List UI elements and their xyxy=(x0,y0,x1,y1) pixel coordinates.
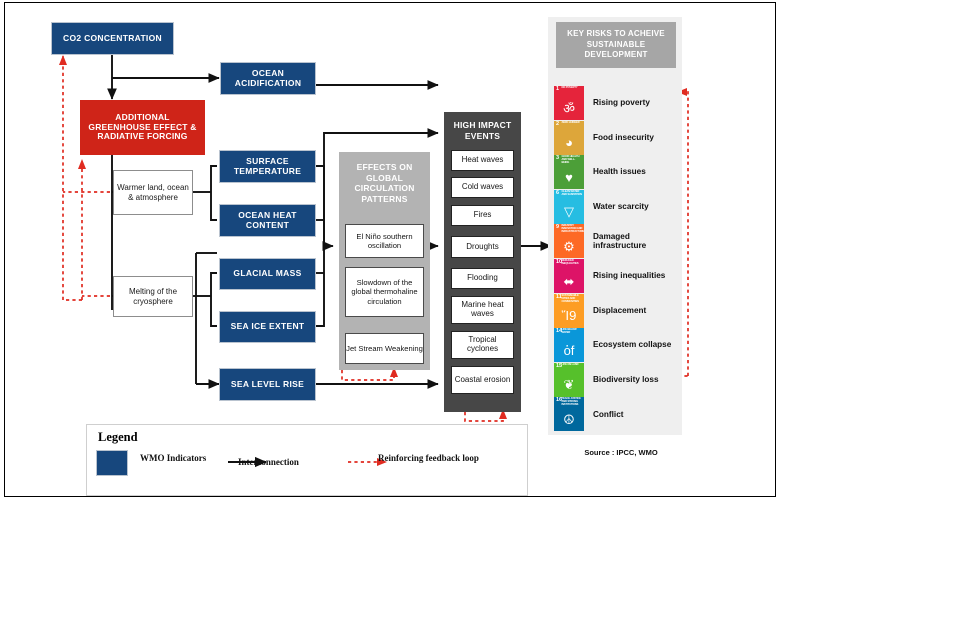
sdg-goal-1-icon: 1NO POVERTYॐ xyxy=(554,86,584,120)
legend-label-interconnection: Interconnection xyxy=(238,457,299,469)
risk-label: Ecosystem collapse xyxy=(593,340,671,350)
risk-row[interactable]: 11SUSTAINABLE CITIES AND COMMUNITIESἽ9Di… xyxy=(554,294,682,328)
sdg-goal-glyph: ▽ xyxy=(554,200,584,224)
sdg-goal-name: PEACE JUSTICE AND STRONG INSTITUTIONS xyxy=(562,398,583,407)
legend-label-feedback-loop: Reinforcing feedback loop xyxy=(378,453,479,465)
sdg-goal-number: 1 xyxy=(556,87,559,93)
sdg-goal-name: GOOD HEALTH AND WELL-BEING xyxy=(562,156,583,165)
impact-event-cold-waves[interactable]: Cold waves xyxy=(451,177,514,198)
risk-row[interactable]: 10REDUCED INEQUALITIES⬌Rising inequaliti… xyxy=(554,259,682,293)
risk-row[interactable]: 16PEACE JUSTICE AND STRONG INSTITUTIONS☮… xyxy=(554,397,682,431)
risk-label: Damaged infrastructure xyxy=(593,232,682,251)
legend-title: Legend xyxy=(98,430,138,445)
risk-label: Rising inequalities xyxy=(593,271,665,281)
circulation-item-label: Slowdown of the global thermohaline circ… xyxy=(346,278,423,305)
sdg-goal-2-icon: 2ZERO HUNGER◕ xyxy=(554,121,584,155)
circulation-item-label: El Niño southern oscillation xyxy=(346,232,423,250)
node-indicator-glacial-mass[interactable]: GLACIAL MASS xyxy=(219,258,316,290)
sdg-goal-name: SUSTAINABLE CITIES AND COMMUNITIES xyxy=(562,295,583,304)
risk-label: Conflict xyxy=(593,410,623,420)
impact-event-label: Marine heat waves xyxy=(452,301,513,319)
impact-event-tropical-cyclones[interactable]: Tropical cyclones xyxy=(451,331,514,359)
sdg-goal-15-icon: 15LIFE ON LAND❦ xyxy=(554,363,584,397)
impact-event-label: Flooding xyxy=(467,274,498,283)
impact-event-label: Heat waves xyxy=(462,156,504,165)
indicator-label: OCEAN HEAT CONTENT xyxy=(220,211,315,231)
sdg-goal-6-icon: 6CLEAN WATER AND SANITATION▽ xyxy=(554,190,584,224)
sdg-goal-glyph: Ἵ9 xyxy=(554,304,584,328)
impact-event-fires[interactable]: Fires xyxy=(451,205,514,226)
sdg-goal-11-icon: 11SUSTAINABLE CITIES AND COMMUNITIESἽ9 xyxy=(554,294,584,328)
node-forcing-label: ADDITIONAL GREENHOUSE EFFECT & RADIATIVE… xyxy=(86,113,199,142)
sdg-goal-name: CLEAN WATER AND SANITATION xyxy=(562,191,583,197)
impact-event-label: Fires xyxy=(474,211,492,220)
source-note: Source : IPCC, WMO xyxy=(556,448,686,457)
panel-global-circulation-title: EFFECTS ON GLOBAL CIRCULATION PATTERNS xyxy=(343,162,426,205)
sdg-goal-glyph: ◕ xyxy=(554,131,584,155)
sdg-goal-9-icon: 9INDUSTRY INNOVATION AND INFRASTRUCTURE⚙ xyxy=(554,224,584,258)
sdg-goal-glyph: ♥ xyxy=(554,165,584,189)
sdg-goal-glyph: ❦ xyxy=(554,373,584,397)
node-co2-label: CO2 CONCENTRATION xyxy=(63,34,162,44)
impact-event-marine-heat-waves[interactable]: Marine heat waves xyxy=(451,296,514,324)
panel-high-impact-events-title: HIGH IMPACT EVENTS xyxy=(447,120,518,141)
impact-event-label: Droughts xyxy=(466,243,498,252)
risk-row[interactable]: 9INDUSTRY INNOVATION AND INFRASTRUCTURE⚙… xyxy=(554,224,682,258)
node-warmer-label: Warmer land, ocean & atmosphere xyxy=(114,183,192,201)
indicator-label: SURFACE TEMPERATURE xyxy=(220,157,315,177)
node-melting-label: Melting of the cryosphere xyxy=(114,287,192,305)
risk-label: Biodiversity loss xyxy=(593,375,659,385)
sdg-goal-glyph: ☮ xyxy=(554,407,584,431)
sdg-goal-name: REDUCED INEQUALITIES xyxy=(562,260,583,266)
sdg-goal-glyph: ॐ xyxy=(554,96,584,120)
panel-key-risks-title: KEY RISKS TO ACHEIVE SUSTAINABLE DEVELOP… xyxy=(556,22,676,68)
sdg-goal-name: ZERO HUNGER xyxy=(562,122,583,125)
diagram-canvas: CO2 CONCENTRATION OCEAN ACIDIFICATION AD… xyxy=(0,0,960,640)
impact-event-label: Cold waves xyxy=(462,183,503,192)
risk-label: Health issues xyxy=(593,167,646,177)
impact-event-label: Coastal erosion xyxy=(455,376,511,385)
sdg-goal-3-icon: 3GOOD HEALTH AND WELL-BEING♥ xyxy=(554,155,584,189)
risk-row[interactable]: 6CLEAN WATER AND SANITATION▽Water scarci… xyxy=(554,190,682,224)
impact-event-flooding[interactable]: Flooding xyxy=(451,268,514,289)
circulation-item-thermohaline-slowdown[interactable]: Slowdown of the global thermohaline circ… xyxy=(345,267,424,317)
node-melting-cryosphere[interactable]: Melting of the cryosphere xyxy=(113,276,193,317)
sdg-goal-name: LIFE BELOW WATER xyxy=(562,329,583,335)
risk-row[interactable]: 15LIFE ON LAND❦Biodiversity loss xyxy=(554,363,682,397)
legend-swatch-wmo-indicator xyxy=(96,450,128,476)
node-indicator-sea-ice-extent[interactable]: SEA ICE EXTENT xyxy=(219,311,316,343)
circulation-item-el-nino[interactable]: El Niño southern oscillation xyxy=(345,224,424,258)
sdg-goal-glyph: ⚙ xyxy=(554,234,584,258)
sdg-goal-name: NO POVERTY xyxy=(562,87,583,90)
risk-label: Water scarcity xyxy=(593,202,649,212)
node-co2-concentration[interactable]: CO2 CONCENTRATION xyxy=(51,22,174,55)
risk-label: Rising poverty xyxy=(593,98,650,108)
risk-row[interactable]: 14LIFE BELOW WATERὁfEcosystem collapse xyxy=(554,328,682,362)
node-indicator-sea-level-rise[interactable]: SEA LEVEL RISE xyxy=(219,368,316,401)
risk-label: Food insecurity xyxy=(593,133,654,143)
indicator-label: GLACIAL MASS xyxy=(233,269,301,279)
circulation-item-label: Jet Stream Weakening xyxy=(346,344,423,353)
risk-row[interactable]: 2ZERO HUNGER◕Food insecurity xyxy=(554,121,682,155)
impact-event-droughts[interactable]: Droughts xyxy=(451,236,514,258)
node-additional-greenhouse-forcing[interactable]: ADDITIONAL GREENHOUSE EFFECT & RADIATIVE… xyxy=(80,100,205,155)
risk-row[interactable]: 1NO POVERTYॐRising poverty xyxy=(554,86,682,120)
sdg-goal-14-icon: 14LIFE BELOW WATERὁf xyxy=(554,328,584,362)
node-indicator-surface-temperature[interactable]: SURFACE TEMPERATURE xyxy=(219,150,316,183)
sdg-goal-number: 3 xyxy=(556,156,559,162)
circulation-item-jet-stream-weakening[interactable]: Jet Stream Weakening xyxy=(345,333,424,364)
sdg-goal-number: 9 xyxy=(556,225,559,231)
indicator-label: SEA LEVEL RISE xyxy=(231,380,304,390)
impact-event-coastal-erosion[interactable]: Coastal erosion xyxy=(451,366,514,394)
risk-row[interactable]: 3GOOD HEALTH AND WELL-BEING♥Health issue… xyxy=(554,155,682,189)
sdg-goal-16-icon: 16PEACE JUSTICE AND STRONG INSTITUTIONS☮ xyxy=(554,397,584,431)
sdg-goal-name: LIFE ON LAND xyxy=(562,364,583,367)
sdg-goal-10-icon: 10REDUCED INEQUALITIES⬌ xyxy=(554,259,584,293)
sdg-goal-glyph: ⬌ xyxy=(554,269,584,293)
node-indicator-ocean-heat-content[interactable]: OCEAN HEAT CONTENT xyxy=(219,204,316,237)
sdg-goal-glyph: ὁf xyxy=(554,338,584,362)
impact-event-label: Tropical cyclones xyxy=(452,336,513,354)
legend-label-wmo-indicators: WMO Indicators xyxy=(140,453,206,465)
node-warmer-land-ocean-atmosphere[interactable]: Warmer land, ocean & atmosphere xyxy=(113,170,193,215)
sdg-goal-name: INDUSTRY INNOVATION AND INFRASTRUCTURE xyxy=(562,225,583,234)
indicator-label: SEA ICE EXTENT xyxy=(231,322,305,332)
impact-event-heat-waves[interactable]: Heat waves xyxy=(451,150,514,171)
risk-label: Displacement xyxy=(593,306,646,316)
sdg-goal-number: 2 xyxy=(556,122,559,128)
sdg-goal-number: 6 xyxy=(556,191,559,197)
node-ocean-acidification[interactable]: OCEAN ACIDIFICATION xyxy=(220,62,316,95)
node-ocean-acidification-label: OCEAN ACIDIFICATION xyxy=(221,69,315,89)
